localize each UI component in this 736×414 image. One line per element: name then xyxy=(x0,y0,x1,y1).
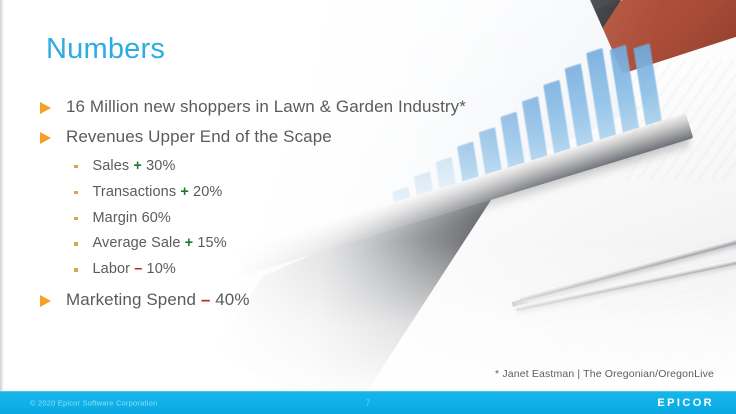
sub-bullet-average-sale: Average Sale + 15% xyxy=(74,234,580,253)
bullet-value: 40% xyxy=(215,290,249,309)
sub-bullet-label: Margin xyxy=(93,210,138,226)
sub-bullet-label: Average Sale xyxy=(93,235,181,251)
triangle-bullet-icon xyxy=(40,132,51,144)
sub-bullet-value: 30% xyxy=(146,158,175,174)
sub-bullet-value: 10% xyxy=(147,261,176,277)
sub-bullet-sales: Sales + 30% xyxy=(74,157,580,176)
sign-symbol: + xyxy=(180,184,189,200)
copyright-text: © 2020 Epicor Software Corporation xyxy=(30,399,157,408)
sub-bullet-margin: Margin 60% xyxy=(74,209,580,228)
footer-bar: © 2020 Epicor Software Corporation 7 EPI… xyxy=(0,391,736,414)
bullet-item-shoppers: 16 Million new shoppers in Lawn & Garden… xyxy=(40,96,580,118)
bullet-list: 16 Million new shoppers in Lawn & Garden… xyxy=(40,96,580,320)
sub-bullet-list: Sales + 30% Transactions + 20% Margin 60… xyxy=(74,157,580,279)
sub-bullet-label: Transactions xyxy=(93,184,177,200)
sub-bullet-text: Transactions + 20% xyxy=(93,183,223,202)
square-dot-icon xyxy=(74,268,78,272)
sub-bullet-value: 15% xyxy=(197,235,226,251)
sub-bullet-text: Margin 60% xyxy=(93,209,171,228)
source-attribution: * Janet Eastman | The Oregonian/OregonLi… xyxy=(495,368,714,380)
sub-bullet-value: 60% xyxy=(142,210,171,226)
sub-bullet-text: Labor – 10% xyxy=(93,260,176,279)
page-title: Numbers xyxy=(46,33,165,66)
sub-bullet-transactions: Transactions + 20% xyxy=(74,183,580,202)
slide-canvas: Numbers 16 Million new shoppers in Lawn … xyxy=(0,0,736,414)
sub-bullet-text: Sales + 30% xyxy=(93,157,176,176)
bullet-item-marketing-spend: Marketing Spend – 40% xyxy=(40,289,580,311)
sign-symbol: + xyxy=(133,158,142,174)
sub-bullet-label: Labor xyxy=(93,261,131,277)
bullet-text: 16 Million new shoppers in Lawn & Garden… xyxy=(66,96,466,118)
brand-logo: EPICOR xyxy=(657,397,714,409)
slide-left-edge xyxy=(0,0,4,392)
sub-bullet-text: Average Sale + 15% xyxy=(93,234,227,253)
sign-symbol: – xyxy=(134,261,142,277)
square-dot-icon xyxy=(74,217,78,221)
square-dot-icon xyxy=(74,191,78,195)
square-dot-icon xyxy=(74,242,78,246)
sub-bullet-label: Sales xyxy=(93,158,130,174)
sign-symbol: – xyxy=(201,290,211,309)
bullet-text: Marketing Spend – 40% xyxy=(66,289,250,311)
bullet-item-revenues: Revenues Upper End of the Scape xyxy=(40,126,580,148)
page-number: 7 xyxy=(366,399,370,408)
sub-bullet-labor: Labor – 10% xyxy=(74,260,580,279)
triangle-bullet-icon xyxy=(40,295,51,307)
square-dot-icon xyxy=(74,165,78,169)
triangle-bullet-icon xyxy=(40,102,51,114)
bullet-text: Revenues Upper End of the Scape xyxy=(66,126,332,148)
bullet-label: Marketing Spend xyxy=(66,290,196,309)
slide-content: Numbers 16 Million new shoppers in Lawn … xyxy=(0,0,736,414)
sign-symbol: + xyxy=(185,235,194,251)
sub-bullet-value: 20% xyxy=(193,184,222,200)
